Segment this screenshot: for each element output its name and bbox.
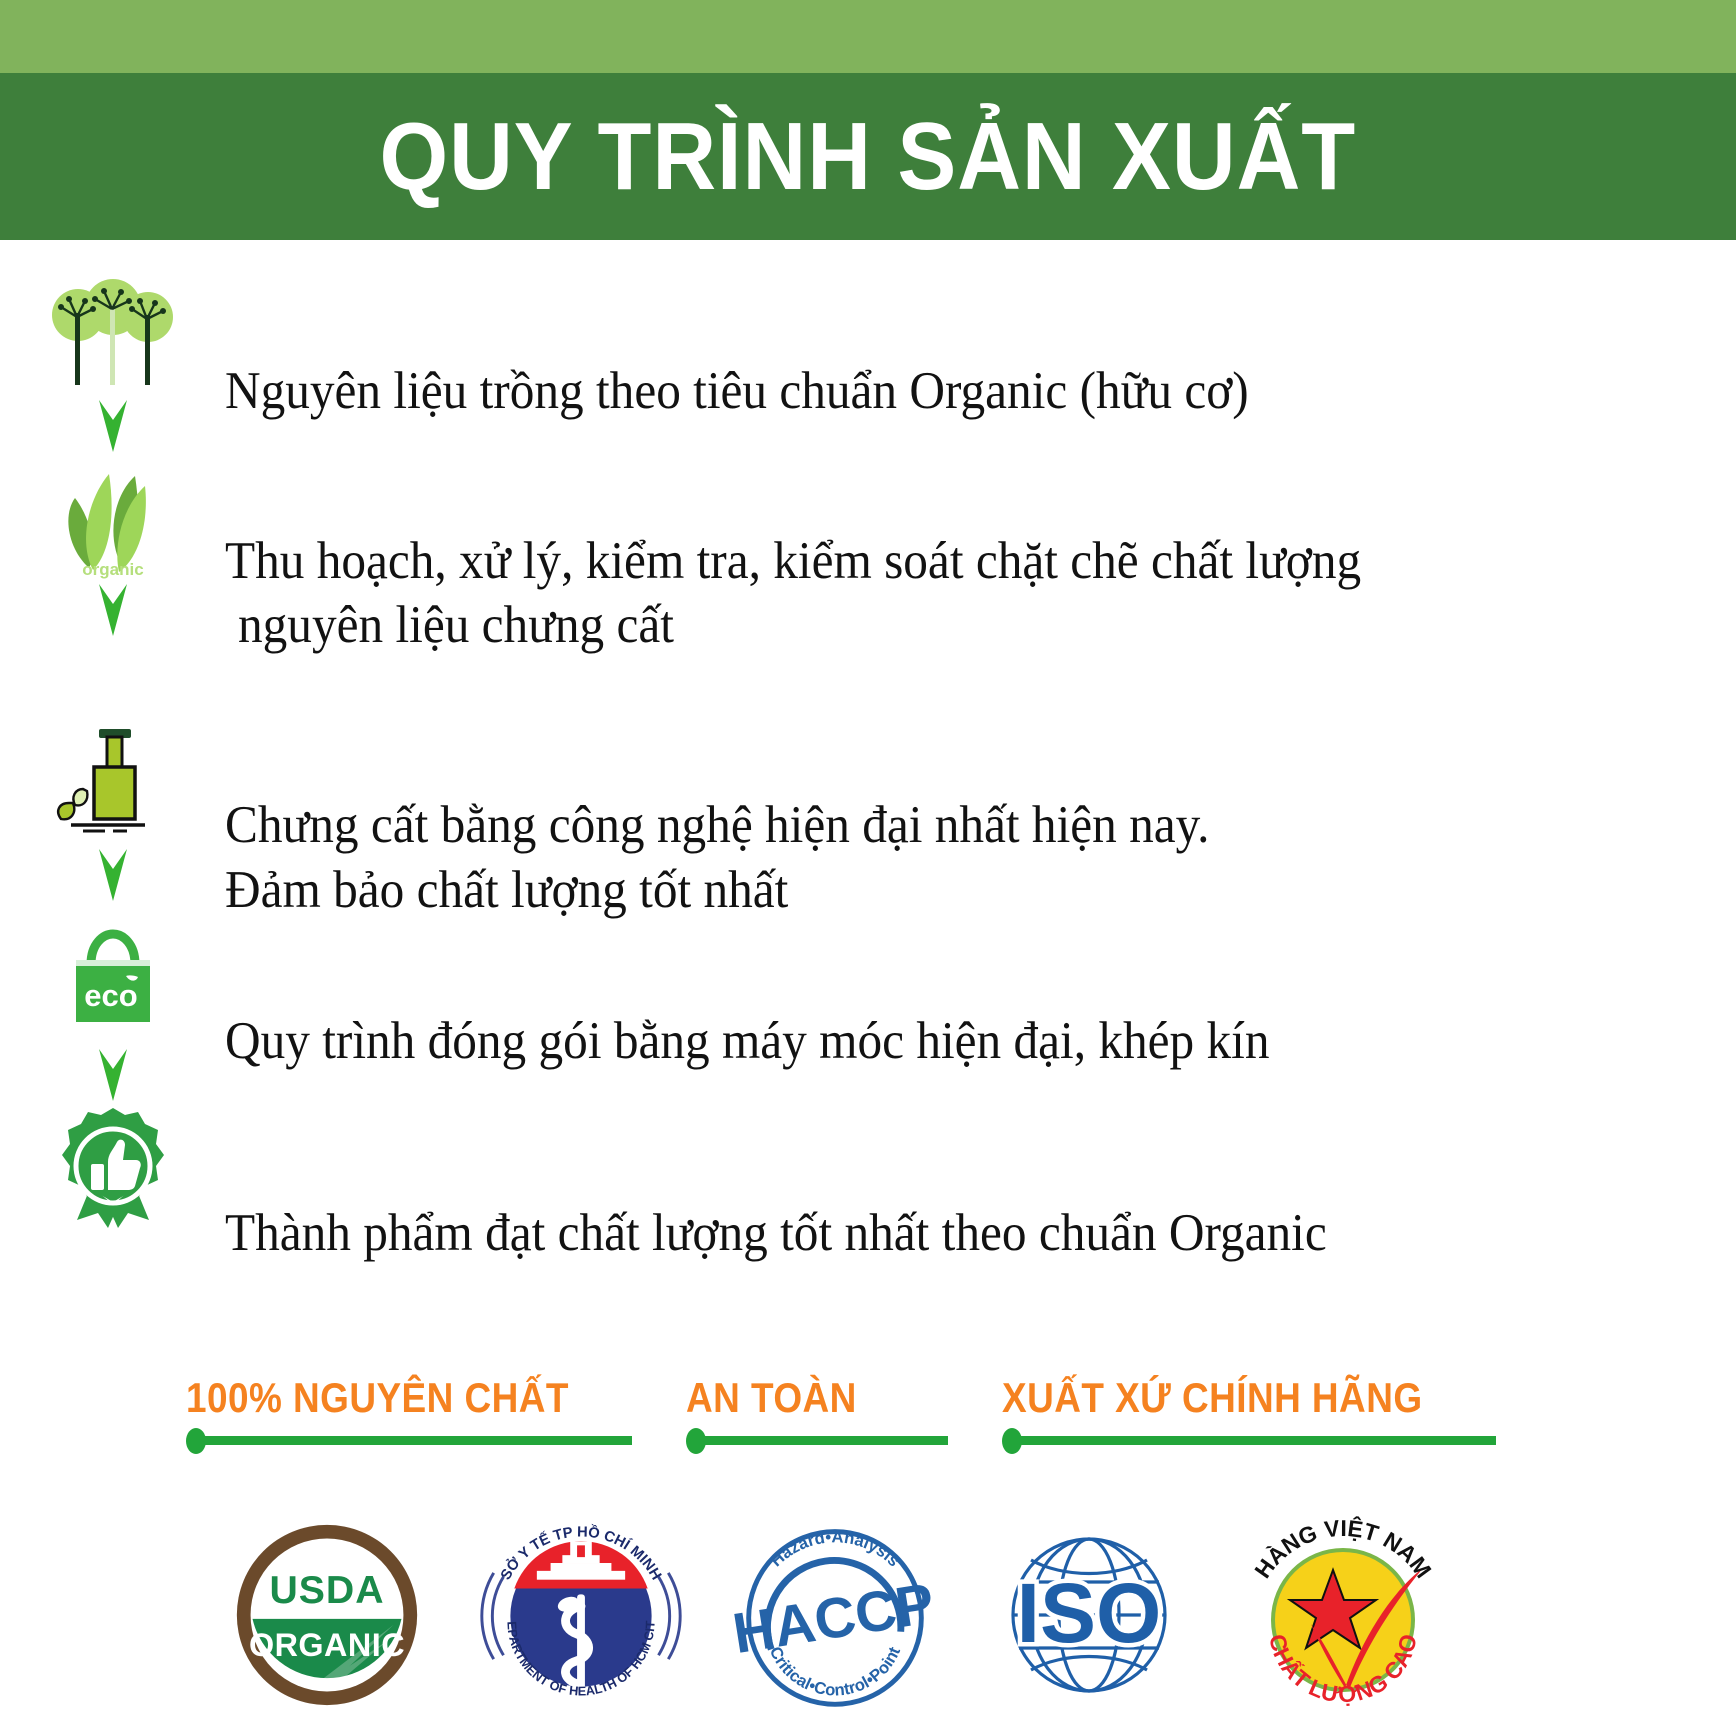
- step-1-line-1: Nguyên liệu trồng theo tiêu chuẩn Organi…: [225, 362, 1249, 420]
- step-1-text: Nguyên liệu trồng theo tiêu chuẩn Organi…: [225, 274, 1249, 423]
- usda-bottom-text: ORGANIC: [249, 1628, 405, 1664]
- connector-arrow-1: [0, 392, 225, 458]
- feature-2-label: AN TOÀN: [686, 1374, 857, 1422]
- process-step-2: organic Thu hoạch, xử lý, kiểm tra, kiểm…: [0, 458, 1736, 723]
- step-4-icon-column: eco: [0, 923, 225, 1107]
- connector-arrow-2: [0, 576, 225, 642]
- organic-leaves-icon: organic: [48, 458, 178, 576]
- haccp-main-text: HACCP: [729, 1572, 939, 1667]
- step-4-line-1: Quy trình đóng gói bằng máy móc hiện đại…: [225, 1012, 1270, 1070]
- process-step-4: eco Quy trình đóng gói bằng máy móc hiện…: [0, 923, 1736, 1107]
- distill-bottle-icon: [48, 723, 178, 841]
- step-3-line-1: Chưng cất bằng công nghệ hiện đại nhất h…: [225, 796, 1209, 854]
- step-3-line-2: Đảm bảo chất lượng tốt nhất: [225, 861, 788, 919]
- connector-arrow-4: [0, 1041, 225, 1107]
- infographic-page: QUY TRÌNH SẢN XUẤT: [0, 0, 1736, 1724]
- feature-1-line: [202, 1436, 632, 1445]
- step-3-icon-column: [0, 723, 225, 907]
- process-step-3: Chưng cất bằng công nghệ hiện đại nhất h…: [0, 723, 1736, 923]
- three-trees-icon: [48, 274, 178, 392]
- step-2-text: Thu hoạch, xử lý, kiểm tra, kiểm soát ch…: [225, 458, 1361, 723]
- connector-arrow-3: [0, 841, 225, 907]
- step-5-text: Thành phẩm đạt chất lượng tốt nhất theo …: [225, 1107, 1327, 1266]
- step-5-icon-column: [0, 1107, 225, 1225]
- eco-bag-icon: eco: [48, 923, 178, 1041]
- hang-viet-nam-chat-luong-cao-logo: HÀNG VIỆT NAM CHẤT LƯỢNG CAO: [1238, 1508, 1448, 1723]
- step-2-icon-column: organic: [0, 458, 225, 642]
- page-title: QUY TRÌNH SẢN XUẤT: [380, 109, 1357, 205]
- feature-3-line: [1018, 1436, 1496, 1445]
- feature-1-label: 100% NGUYÊN CHẤT: [186, 1374, 569, 1422]
- feature-item-2: AN TOÀN: [686, 1374, 948, 1454]
- iso-logo: ISO: [984, 1508, 1194, 1723]
- feature-item-3: XUẤT XỨ CHÍNH HÃNG: [1002, 1374, 1496, 1454]
- feature-2-line: [702, 1436, 948, 1445]
- haccp-logo: HACCP Hazard•Analysis Critical•Control•P…: [730, 1508, 940, 1723]
- step-5-line-1: Thành phẩm đạt chất lượng tốt nhất theo …: [225, 1204, 1327, 1262]
- process-step-5: Thành phẩm đạt chất lượng tốt nhất theo …: [0, 1107, 1736, 1266]
- feature-3-rule: [1002, 1428, 1496, 1454]
- step-4-text: Quy trình đóng gói bằng máy móc hiện đại…: [225, 923, 1270, 1074]
- step-2-line-2: nguyên liệu chưng cất: [225, 593, 1361, 658]
- feature-3-label: XUẤT XỨ CHÍNH HÃNG: [1002, 1374, 1423, 1422]
- feature-taglines: 100% NGUYÊN CHẤT AN TOÀN XUẤT XỨ CHÍNH H…: [0, 1266, 1736, 1454]
- quality-badge-icon: [48, 1107, 178, 1225]
- step-2-line-1: Thu hoạch, xử lý, kiểm tra, kiểm soát ch…: [225, 532, 1361, 590]
- step-1-icon-column: [0, 274, 225, 458]
- feature-1-rule: [186, 1428, 632, 1454]
- eco-caption: eco: [84, 978, 137, 1013]
- process-steps-list: Nguyên liệu trồng theo tiêu chuẩn Organi…: [0, 240, 1736, 1266]
- header-band: QUY TRÌNH SẢN XUẤT: [0, 73, 1736, 240]
- top-accent-strip: [0, 0, 1736, 73]
- iso-main-text: ISO: [1017, 1566, 1162, 1660]
- certification-logos: USDA ORGANIC: [0, 1454, 1736, 1723]
- usda-organic-seal: USDA ORGANIC: [222, 1508, 432, 1723]
- feature-item-1: 100% NGUYÊN CHẤT: [186, 1374, 632, 1454]
- step-3-text: Chưng cất bằng công nghệ hiện đại nhất h…: [225, 723, 1209, 923]
- usda-top-text: USDA: [270, 1570, 385, 1613]
- feature-2-rule: [686, 1428, 948, 1454]
- hcm-department-of-health-logo: SỞ Y TẾ TP HỒ CHÍ MINH DEPARTMENT OF HEA…: [476, 1508, 686, 1723]
- process-step-1: Nguyên liệu trồng theo tiêu chuẩn Organi…: [0, 274, 1736, 458]
